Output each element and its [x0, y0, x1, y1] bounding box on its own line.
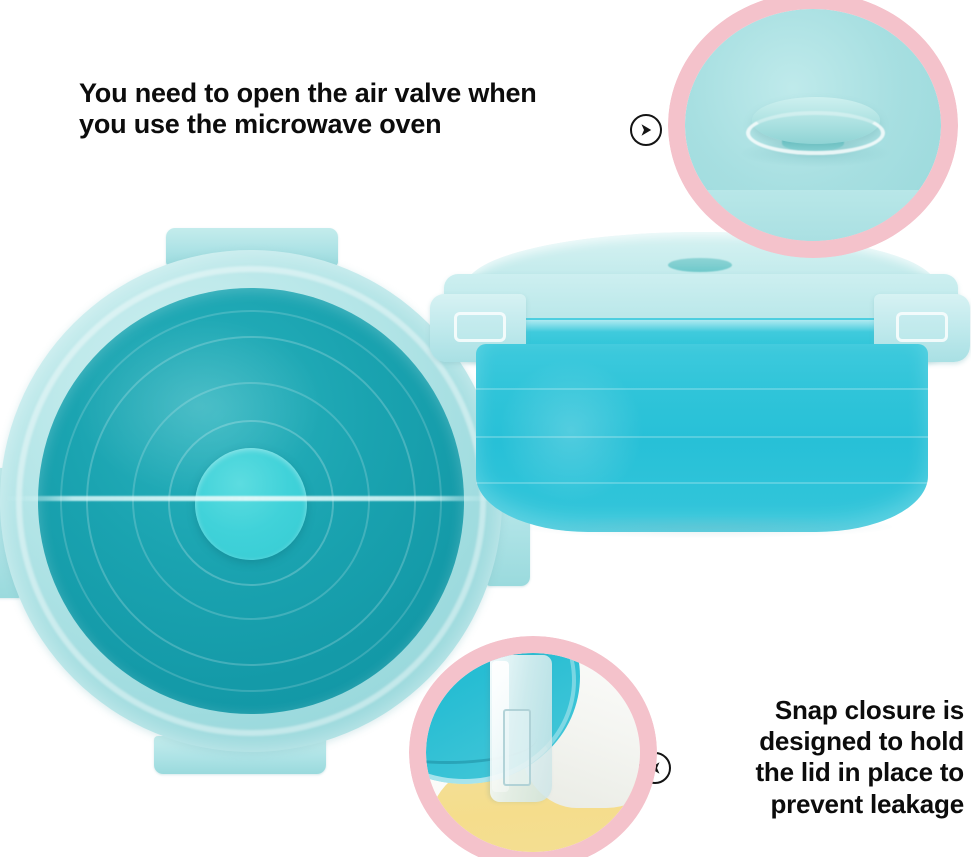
lid-seal-gloss [490, 320, 910, 332]
arrow-right-circle-icon [630, 114, 662, 146]
valve-lid-base [685, 190, 941, 241]
lid-split-line [4, 496, 498, 501]
magnifier-air-valve [668, 0, 958, 258]
magnifier-snap-closure [409, 636, 657, 857]
body-highlight [496, 356, 646, 506]
valve-cap-rim [746, 111, 884, 155]
callout-snap-closure-text: Snap closure is designed to hold the lid… [664, 695, 964, 820]
drop-shadow [520, 516, 892, 538]
center-air-valve [195, 448, 307, 560]
air-valve-nub [668, 258, 732, 272]
snap-clip-slot-right [896, 312, 948, 342]
magnifier-snap-closure-content [426, 653, 640, 852]
snap-clip-slot-left [454, 312, 506, 342]
callout-air-valve-text: You need to open the air valve when you … [79, 78, 639, 141]
product-feature-image: You need to open the air valve when you … [0, 0, 971, 857]
product-side-view [430, 232, 971, 532]
magnifier-air-valve-content [685, 9, 941, 241]
snap-clip-detail-slot [503, 709, 531, 787]
arrow-left-circle-icon [639, 752, 671, 784]
